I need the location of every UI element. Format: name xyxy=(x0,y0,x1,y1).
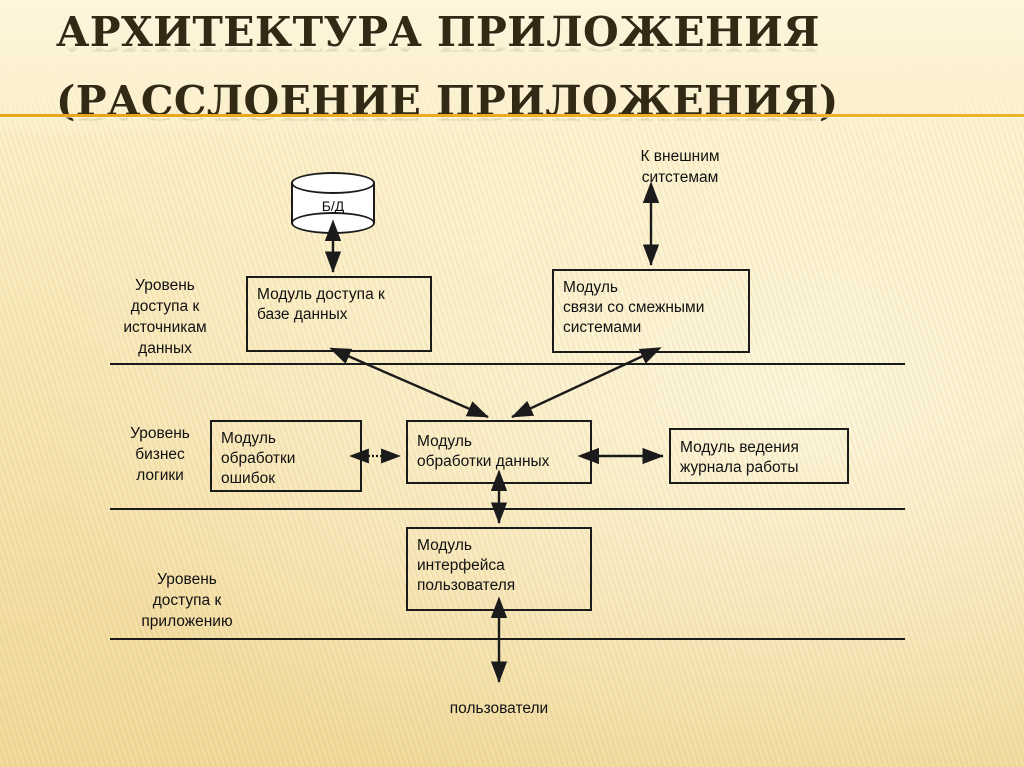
layer-divider-3 xyxy=(110,638,905,640)
layer-label-data-access: Уровень доступа к источникам данных xyxy=(100,275,230,359)
module-text-line: Модуль xyxy=(563,278,739,298)
external-systems-label-line-1: К внешним xyxy=(585,146,775,167)
module-text-line: журнала работы xyxy=(680,458,838,478)
module-text-line: обработки xyxy=(221,449,351,469)
layer-label-line: данных xyxy=(100,338,230,359)
external-systems-label: К внешним ситстемам xyxy=(585,146,775,188)
slide-canvas: АРХИТЕКТУРА ПРИЛОЖЕНИЯ АРХИТЕКТУРА ПРИЛО… xyxy=(0,0,1024,767)
module-text-line: связи со смежными xyxy=(563,298,739,318)
layer-label-line: источникам xyxy=(100,317,230,338)
module-text-line: системами xyxy=(563,318,739,338)
module-text-line: базе данных xyxy=(257,305,421,325)
module-text-line: Модуль xyxy=(417,536,581,556)
database-top-ellipse xyxy=(291,172,375,194)
database-cylinder-icon: Б/Д xyxy=(291,172,375,234)
module-text-line: ошибок xyxy=(221,469,351,489)
database-label: Б/Д xyxy=(291,198,375,214)
layer-label-line: приложению xyxy=(112,611,262,632)
title-line-2: (РАССЛОЕНИЕ ПРИЛОЖЕНИЯ) xyxy=(56,77,986,126)
layer-label-line: Уровень xyxy=(100,423,220,444)
layer-label-line: Уровень xyxy=(112,569,262,590)
module-text-line: обработки данных xyxy=(417,452,581,472)
module-adjacent-systems[interactable]: Модуль связи со смежными системами xyxy=(552,269,750,353)
layer-divider-1 xyxy=(110,363,905,365)
module-logging[interactable]: Модуль ведения журнала работы xyxy=(669,428,849,484)
module-text-line: Модуль ведения xyxy=(680,438,838,458)
layer-label-business-logic: Уровень бизнес логики xyxy=(100,423,220,486)
module-error-handling[interactable]: Модуль обработки ошибок xyxy=(210,420,362,492)
layer-label-line: логики xyxy=(100,465,220,486)
arrow-db-access-to-data-processing xyxy=(348,356,488,417)
users-label-text: пользователи xyxy=(399,698,599,719)
users-label: пользователи xyxy=(399,698,599,719)
layer-label-application-access: Уровень доступа к приложению xyxy=(112,569,262,632)
module-text-line: Модуль xyxy=(417,432,581,452)
module-text-line: Модуль xyxy=(221,429,351,449)
module-text-line: Модуль доступа к xyxy=(257,285,421,305)
database-bottom-ellipse xyxy=(291,212,375,234)
module-text-line: пользователя xyxy=(417,576,581,596)
layer-label-line: бизнес xyxy=(100,444,220,465)
arrow-adjacent-systems-to-data-processing xyxy=(512,356,643,417)
layer-divider-2 xyxy=(110,508,905,510)
layer-label-line: доступа к xyxy=(112,590,262,611)
external-systems-label-line-2: ситстемам xyxy=(585,167,775,188)
title-accent-rule xyxy=(0,114,1024,117)
module-db-access[interactable]: Модуль доступа к базе данных xyxy=(246,276,432,352)
module-user-interface[interactable]: Модуль интерфейса пользователя xyxy=(406,527,592,611)
layer-label-line: Уровень xyxy=(100,275,230,296)
title-line-1: АРХИТЕКТУРА ПРИЛОЖЕНИЯ xyxy=(56,8,986,57)
module-text-line: интерфейса xyxy=(417,556,581,576)
module-data-processing[interactable]: Модуль обработки данных xyxy=(406,420,592,484)
page-title: АРХИТЕКТУРА ПРИЛОЖЕНИЯ АРХИТЕКТУРА ПРИЛО… xyxy=(56,8,986,128)
layer-label-line: доступа к xyxy=(100,296,230,317)
